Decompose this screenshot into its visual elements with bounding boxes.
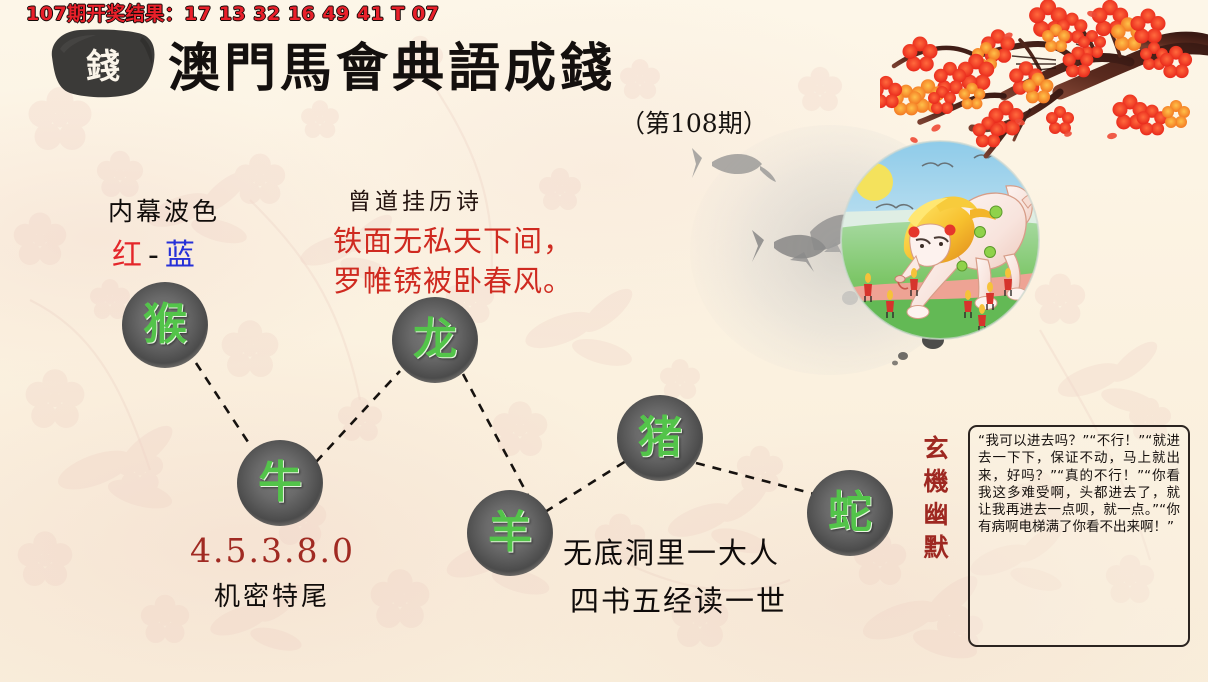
bose-dash: - [144, 238, 165, 273]
zodiac-label: 羊 [488, 511, 532, 555]
secret-tail-label: 机密特尾 [214, 576, 330, 613]
zodiac-node-dragon[interactable]: 龙 [392, 297, 478, 383]
zodiac-node-pig[interactable]: 猪 [617, 395, 703, 481]
draw-result-text: 107期开奖结果：17 13 32 16 49 41 T 07 [26, 0, 440, 26]
zodiac-label: 蛇 [828, 491, 872, 535]
zodiac-label: 牛 [258, 461, 302, 505]
bose-color-blue: 蓝 [165, 238, 197, 273]
phrase-line-1: 无底洞里一大人 [563, 530, 780, 572]
humor-label-text: 玄機幽默 [923, 434, 948, 562]
zodiac-label: 猴 [143, 303, 187, 347]
zodiac-label: 猪 [638, 416, 682, 460]
secret-tail-numbers: 4.5.3.8.0 [190, 531, 355, 570]
poem-title: 曾道挂历诗 [348, 182, 483, 216]
page-title: 澳門馬會典語成錢 [168, 26, 616, 101]
humor-section-label: 玄機幽默 [918, 432, 954, 564]
poem-line-2: 罗帷锈被卧春风。 [333, 258, 573, 300]
issue-number: （第108期） [620, 104, 768, 140]
bose-colors: 红-蓝 [112, 230, 197, 274]
humor-text-box: “我可以进去吗？”“不行！”“就进去一下下，保证不动，马上就出来，好吗？”“真的… [968, 425, 1190, 647]
poem-line-1: 铁面无私天下间， [333, 218, 573, 260]
bose-title: 内幕波色 [108, 192, 220, 228]
zodiac-node-monkey[interactable]: 猴 [122, 282, 208, 368]
phrase-line-2: 四书五经读一世 [570, 578, 787, 620]
zodiac-label: 龙 [413, 318, 457, 362]
zodiac-node-ox[interactable]: 牛 [237, 440, 323, 526]
bose-color-red: 红 [112, 238, 144, 273]
humor-text: “我可以进去吗？”“不行！”“就进去一下下，保证不动，马上就出来，好吗？”“真的… [978, 433, 1180, 537]
poster-root: 107期开奖结果：17 13 32 16 49 41 T 07 錢 澳門馬會典語… [0, 0, 1208, 682]
draw-result-bar: 107期开奖结果：17 13 32 16 49 41 T 07 [0, 0, 1208, 25]
seal-stamp: 錢 [46, 27, 158, 99]
zodiac-node-goat[interactable]: 羊 [467, 490, 553, 576]
seal-character: 錢 [46, 27, 158, 99]
zodiac-node-snake[interactable]: 蛇 [807, 470, 893, 556]
